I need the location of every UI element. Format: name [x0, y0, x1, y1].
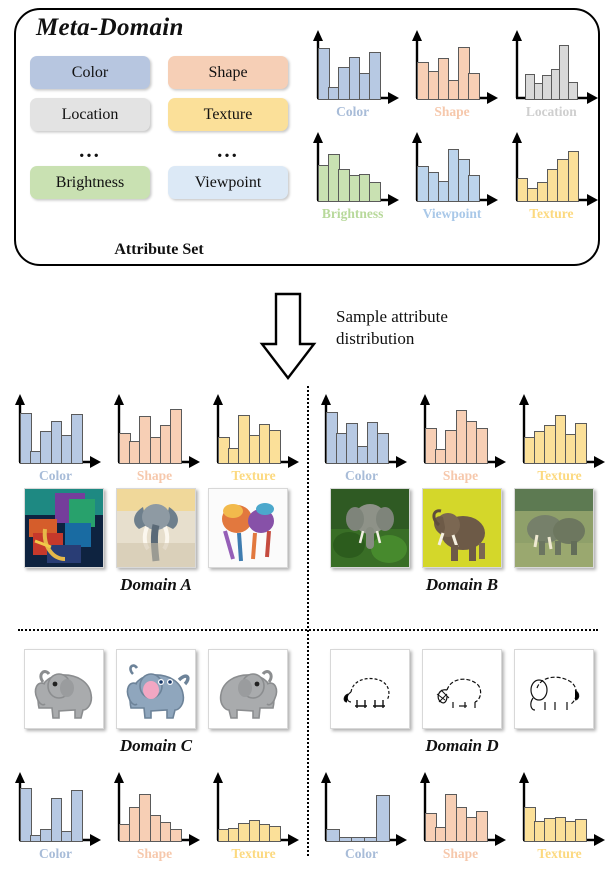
histogram-label: Color: [314, 468, 409, 484]
domain-b-name: Domain B: [314, 575, 610, 595]
histogram-bars: [524, 402, 593, 464]
elephant-photo-yellow: [422, 488, 502, 568]
histogram-bars: [218, 402, 287, 464]
vertical-divider: [307, 386, 309, 856]
histogram-bar: [575, 819, 587, 842]
histogram-label: Brightness: [306, 206, 399, 222]
meta-histogram-row-1: Color Shape Location: [306, 28, 598, 120]
elephant-sketch-1: [330, 649, 410, 729]
domain-b-panel: Color Shape Texture Domain B: [314, 392, 610, 595]
histogram-bars: [524, 780, 593, 842]
domain-a-histograms: Color Shape Texture: [8, 392, 304, 484]
ellipsis-right: ...: [168, 140, 288, 166]
histogram-bar: [170, 409, 182, 464]
histogram-bars: [517, 38, 586, 100]
elephant-cartoon-grey2: [208, 649, 288, 729]
histogram-c-color: Color: [8, 770, 103, 862]
histogram-label: Texture: [505, 206, 598, 222]
histogram-bar: [568, 82, 578, 100]
histogram-bar: [369, 52, 381, 100]
elephant-cartoon-blue: [116, 649, 196, 729]
elephant-painting-white: [208, 488, 288, 568]
domain-c-images: [8, 649, 304, 729]
histogram-bars: [517, 140, 586, 202]
histogram-label: Shape: [107, 468, 202, 484]
histogram-bars: [318, 38, 387, 100]
histogram-bar: [269, 430, 281, 464]
histogram-meta-brightness: Brightness: [306, 130, 399, 222]
elephant-photo-forest: [330, 488, 410, 568]
histogram-bars: [417, 38, 486, 100]
histogram-label: Texture: [206, 846, 301, 862]
domain-a-name: Domain A: [8, 575, 304, 595]
histogram-bars: [425, 402, 494, 464]
histogram-bars: [20, 402, 89, 464]
histogram-bar: [476, 428, 488, 464]
histogram-bar: [71, 790, 83, 842]
histogram-a-color: Color: [8, 392, 103, 484]
chip-label: Color: [72, 64, 108, 82]
histogram-bar: [568, 151, 580, 202]
domain-a-images: [8, 488, 304, 568]
histogram-meta-texture: Texture: [505, 130, 598, 222]
histogram-d-color: Color: [314, 770, 409, 862]
histogram-label: Color: [314, 846, 409, 862]
histogram-b-shape: Shape: [413, 392, 508, 484]
histogram-bars: [218, 780, 287, 842]
histogram-bars: [417, 140, 486, 202]
meta-histograms: Color Shape Location Brightness Viewpoin…: [306, 28, 598, 222]
domain-d-name: Domain D: [314, 736, 610, 756]
histogram-bar: [377, 433, 389, 464]
histogram-a-texture: Texture: [206, 392, 301, 484]
histogram-bar: [468, 73, 480, 100]
histogram-meta-location: Location: [505, 28, 598, 120]
histogram-bars: [119, 780, 188, 842]
sample-arrow: [258, 292, 318, 380]
attribute-chip-brightness[interactable]: Brightness: [30, 166, 150, 199]
histogram-bar: [71, 414, 83, 464]
chip-label: Shape: [208, 64, 247, 82]
histogram-label: Texture: [206, 468, 301, 484]
caption-line-1: Sample attribute: [336, 306, 516, 328]
histogram-label: Color: [8, 468, 103, 484]
chip-label: Brightness: [56, 174, 124, 192]
histogram-bar: [476, 811, 488, 842]
histogram-label: Color: [306, 104, 399, 120]
histogram-b-texture: Texture: [512, 392, 607, 484]
attribute-chip-viewpoint[interactable]: Viewpoint: [168, 166, 288, 199]
elephant-cartoon-grey: [24, 649, 104, 729]
domain-d-images: [314, 649, 610, 729]
domain-b-images: [314, 488, 610, 568]
histogram-bars: [318, 140, 387, 202]
elephant-sketch-2: [422, 649, 502, 729]
histogram-bar: [575, 423, 587, 464]
histogram-label: Shape: [405, 104, 498, 120]
histogram-label: Texture: [512, 468, 607, 484]
histogram-meta-shape: Shape: [405, 28, 498, 120]
domain-c-histograms: Color Shape Texture: [8, 770, 304, 862]
attribute-chip-color[interactable]: Color: [30, 56, 150, 89]
attribute-set: Color Shape Location Texture ... ... Bri…: [30, 56, 288, 208]
histogram-label: Shape: [107, 846, 202, 862]
histogram-label: Color: [8, 846, 103, 862]
elephant-photo-savanna: [514, 488, 594, 568]
histogram-label: Texture: [512, 846, 607, 862]
histogram-bars: [425, 780, 494, 842]
chip-label: Texture: [204, 106, 253, 124]
domain-c-name: Domain C: [8, 736, 304, 756]
domain-c-panel: Domain C Color Shape Texture: [8, 645, 304, 862]
histogram-label: Shape: [413, 846, 508, 862]
domain-a-panel: Color Shape Texture Domain A: [8, 392, 304, 595]
chip-label: Viewpoint: [195, 174, 262, 192]
histogram-bar: [369, 182, 381, 202]
histogram-bar: [468, 175, 480, 202]
histogram-bars: [119, 402, 188, 464]
sample-attribute-caption: Sample attribute distribution: [336, 306, 516, 350]
histogram-a-shape: Shape: [107, 392, 202, 484]
histogram-meta-viewpoint: Viewpoint: [405, 130, 498, 222]
elephant-painting-ochre: [116, 488, 196, 568]
histogram-label: Viewpoint: [405, 206, 498, 222]
meta-histogram-row-2: Brightness Viewpoint Texture: [306, 130, 598, 222]
histogram-b-color: Color: [314, 392, 409, 484]
elephant-painting-teal: [24, 488, 104, 568]
elephant-sketch-3: [514, 649, 594, 729]
attribute-set-caption: Attribute Set: [30, 241, 288, 259]
attribute-chip-location[interactable]: Location: [30, 98, 150, 131]
histogram-bar: [376, 795, 390, 842]
histogram-bars: [326, 780, 395, 842]
caption-line-2: distribution: [336, 328, 516, 350]
histogram-meta-color: Color: [306, 28, 399, 120]
histogram-c-texture: Texture: [206, 770, 301, 862]
meta-domain-title: Meta-Domain: [36, 14, 184, 42]
horizontal-divider: [18, 629, 598, 631]
domain-d-panel: Domain D Color Shape Texture: [314, 645, 610, 862]
histogram-bars: [20, 780, 89, 842]
ellipsis-left: ...: [30, 140, 150, 166]
histogram-bar: [269, 826, 281, 842]
attribute-chip-shape[interactable]: Shape: [168, 56, 288, 89]
histogram-bar: [170, 829, 182, 842]
chip-label: Location: [62, 106, 119, 124]
histogram-d-texture: Texture: [512, 770, 607, 862]
histogram-bars: [326, 402, 395, 464]
attribute-chip-texture[interactable]: Texture: [168, 98, 288, 131]
domain-d-histograms: Color Shape Texture: [314, 770, 610, 862]
histogram-d-shape: Shape: [413, 770, 508, 862]
histogram-label: Location: [505, 104, 598, 120]
domain-b-histograms: Color Shape Texture: [314, 392, 610, 484]
histogram-label: Shape: [413, 468, 508, 484]
histogram-c-shape: Shape: [107, 770, 202, 862]
